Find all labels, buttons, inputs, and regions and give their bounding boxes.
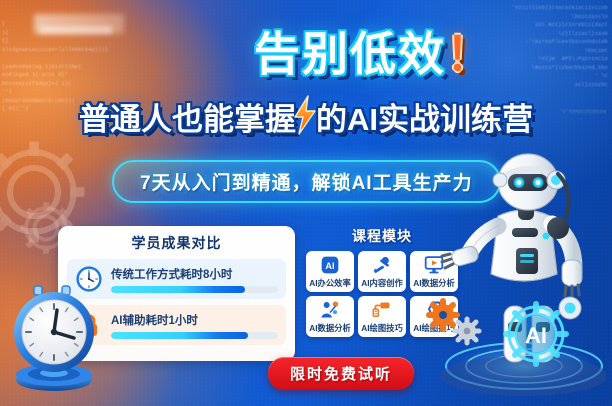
decorative-code-left: } ){ {] alzdgoaeiaziicperlzll608t54p}})}…: [2, 20, 108, 114]
page-title: 告别低效！: [254, 18, 494, 84]
svg-text:AI: AI: [525, 323, 547, 348]
headline-exclamation: ！: [446, 28, 494, 80]
microphone-pen-icon: [359, 254, 405, 276]
headline-group: 告别低效！: [0, 18, 612, 84]
progress-track-ai: [111, 332, 278, 339]
student-results-card: 学员成果对比 传统工作方: [58, 226, 295, 361]
student-results-title: 学员成果对比: [67, 233, 286, 253]
comparison-label-ai: AI辅助耗时1小时: [111, 312, 278, 328]
module-label-ai-content: AI内容创作: [359, 277, 405, 289]
blurred-text-bar: [34, 14, 124, 34]
module-tile-ai-content[interactable]: AI内容创作: [358, 251, 406, 292]
ai-badge-icon: AI: [307, 254, 353, 276]
module-label-ai-draw-1: AI绘图技巧: [359, 322, 405, 334]
paint-roller-icon: [359, 299, 405, 321]
module-tile-ai-office[interactable]: AI AI办公效率: [306, 251, 354, 292]
lock-icon: [75, 311, 103, 339]
svg-text:AI: AI: [325, 261, 334, 271]
progress-fill-ai: [111, 332, 248, 339]
decorative-code-right: 'Vziillieb}}csacazkiaciiviiob \bozczascl…: [512, 4, 608, 89]
monitor-play-icon: [411, 254, 457, 276]
decorative-code-right-secondary: 'V'Vznzcztzbcoa: [559, 108, 606, 117]
free-trial-button[interactable]: 限时免费试听: [268, 357, 414, 390]
module-label-ai-draw-2: AI绘图技巧: [411, 322, 457, 334]
comparison-label-traditional: 传统工作方式耗时8小时: [111, 266, 278, 282]
module-tile-ai-data-2[interactable]: AI数据分析: [306, 296, 354, 337]
course-modules-grid: AI AI办公效率 AI内容创作: [306, 251, 458, 337]
subtitle-first-part: 普通人也能掌握: [79, 94, 296, 139]
comparison-row-traditional: 传统工作方式耗时8小时: [67, 259, 286, 299]
module-tile-ai-draw-1[interactable]: AI绘图技巧: [358, 296, 406, 337]
module-label-ai-data-1: AI数据分析: [411, 277, 457, 289]
comparison-row-ai: AI辅助耗时1小时: [67, 305, 286, 345]
course-modules-card: 课程模块 AI AI办公效率: [306, 226, 458, 366]
progress-track-traditional: [111, 286, 278, 293]
progress-fill-traditional: [111, 286, 245, 293]
course-modules-title: 课程模块: [306, 226, 458, 246]
tagline-pill: 7天从入门到精通，解锁AI工具生产力: [112, 160, 501, 203]
comparison-body-ai: AI辅助耗时1小时: [111, 312, 278, 339]
module-label-ai-office: AI办公效率: [307, 277, 353, 289]
subtitle-second-part: 的AI实战训练营: [316, 94, 533, 139]
headline-text: 告别低效: [254, 28, 446, 80]
blurred-text-bar-secondary: [40, 26, 112, 34]
person-analytics-icon: [307, 299, 353, 321]
comparison-body-traditional: 传统工作方式耗时8小时: [111, 266, 278, 293]
module-label-ai-data-2: AI数据分析: [307, 322, 353, 334]
promo-banner: } ){ {] alzdgoaeiaziicperlzll608t54p}})}…: [0, 0, 612, 406]
lightning-bolt-icon: [290, 95, 320, 140]
robot-illustration: AI: [436, 108, 606, 398]
hexagon-gear-icon: [411, 299, 457, 321]
cards-row: 学员成果对比 传统工作方: [58, 226, 458, 366]
subtitle-group: 普通人也能掌握的AI实战训练营: [0, 94, 612, 139]
module-tile-ai-data-1[interactable]: AI数据分析: [410, 251, 458, 292]
module-tile-ai-draw-2[interactable]: AI绘图技巧: [410, 296, 458, 337]
clock-icon: [75, 265, 103, 293]
